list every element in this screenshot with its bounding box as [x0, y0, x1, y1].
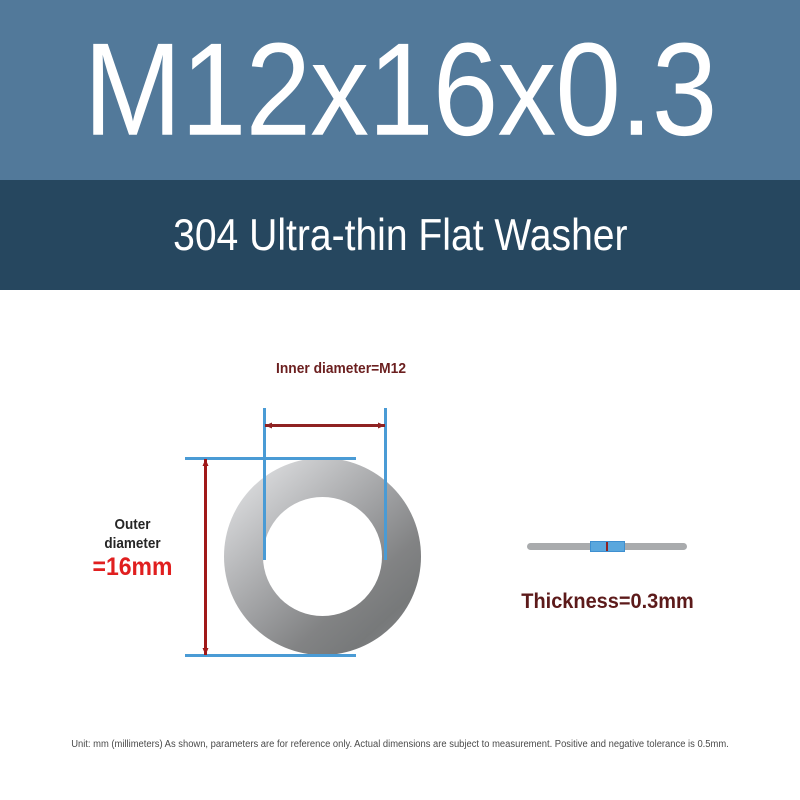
subtitle-banner: 304 Ultra-thin Flat Washer	[0, 180, 800, 290]
outer-diameter-value: =16mm	[75, 554, 190, 582]
product-subtitle: 304 Ultra-thin Flat Washer	[173, 213, 627, 258]
inner-diameter-arrow-left	[265, 423, 272, 429]
outer-diameter-arrow-bottom	[203, 648, 209, 655]
outer-diameter-label-line2: diameter	[76, 534, 189, 553]
inner-diameter-arrow-right	[378, 423, 385, 429]
header-banner: M12x16x0.3	[0, 0, 800, 180]
inner-diameter-label: Inner diameter=M12	[249, 360, 433, 377]
outer-diameter-label: Outer diameter =16mm	[70, 515, 195, 582]
product-title: M12x16x0.3	[84, 24, 717, 156]
product-diagram-area: Inner diameter=M12 Outer diameter =16mm …	[0, 290, 800, 730]
washer-front-view	[224, 458, 421, 655]
footer-disclaimer-note: Unit: mm (millimeters) As shown, paramet…	[24, 738, 776, 751]
outer-diameter-arrow-top	[203, 459, 209, 466]
thickness-label: Thickness=0.3mm	[501, 590, 715, 614]
washer-side-view	[527, 540, 687, 552]
outer-diameter-label-line1: Outer	[76, 515, 189, 534]
thickness-tick-mark	[606, 542, 608, 551]
washer-inner-hole	[263, 497, 382, 616]
